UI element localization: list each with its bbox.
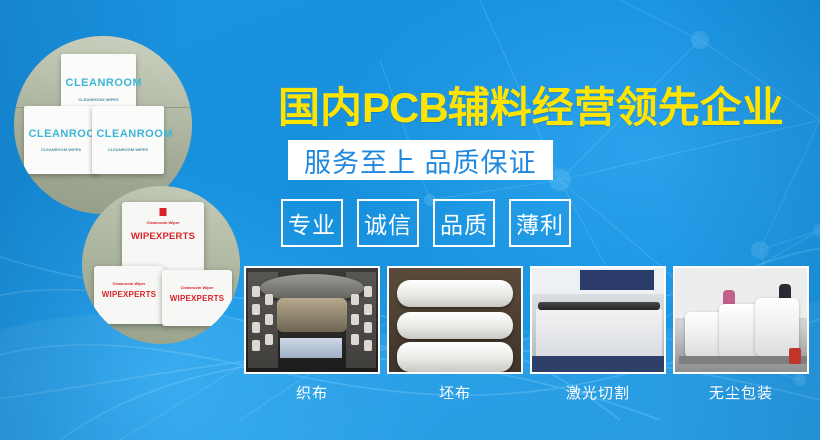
process-caption: 激光切割 <box>530 382 666 403</box>
feature-tag-professional: 专业 <box>281 199 343 247</box>
process-thumbnail-packing-room <box>673 266 809 374</box>
product-bale: Cleanroom Wiper WIPEXPERTS <box>94 266 164 324</box>
feature-tag-label: 诚信 <box>364 206 412 240</box>
process-item-laser-cutting: 激光切割 <box>530 266 666 403</box>
product-box: CLEANROOM CLEANROOM WIPES <box>24 106 98 174</box>
product-bale: Cleanroom Wiper WIPEXPERTS <box>122 202 204 272</box>
headline-brand: PCB <box>362 84 448 131</box>
process-item-greige-fabric: 坯布 <box>387 266 523 403</box>
product-bale: Cleanroom Wiper WIPEXPERTS <box>162 270 232 326</box>
promotional-banner: CLEANROOM CLEANROOM WIPES CLEANROOM CLEA… <box>0 0 820 440</box>
process-caption: 坯布 <box>387 382 523 403</box>
feature-tag-integrity: 诚信 <box>357 199 419 247</box>
process-thumbnail-fabric-rolls <box>387 266 523 374</box>
feature-tag-quality: 品质 <box>433 199 495 247</box>
feature-tag-list: 专业 诚信 品质 薄利 <box>281 199 571 247</box>
process-caption: 无尘包装 <box>673 382 809 403</box>
process-item-cleanroom-packing: 无尘包装 <box>673 266 809 403</box>
process-thumbnail-knitting-machine <box>244 266 380 374</box>
headline-suffix: 辅料经营领先企业 <box>448 84 784 131</box>
headline-prefix: 国内 <box>278 84 362 131</box>
product-box: CLEANROOM CLEANROOM WIPES <box>92 106 164 174</box>
process-thumbnail-laser-cutter <box>530 266 666 374</box>
process-item-weaving: 织布 <box>244 266 380 403</box>
feature-tag-label: 品质 <box>440 206 488 240</box>
feature-tag-label: 专业 <box>288 206 336 240</box>
product-photo-wipexperts-bales: Cleanroom Wiper WIPEXPERTS Cleanroom Wip… <box>82 186 240 344</box>
process-thumbnail-list: 织布 坯布 激光切割 <box>244 266 809 403</box>
banner-headline: 国内PCB辅料经营领先企业 <box>278 74 784 135</box>
banner-subtitle: 服务至上 品质保证 <box>304 141 537 180</box>
banner-subtitle-bar: 服务至上 品质保证 <box>288 140 553 180</box>
feature-tag-label: 薄利 <box>516 206 564 240</box>
process-caption: 织布 <box>244 382 380 403</box>
feature-tag-low-margin: 薄利 <box>509 199 571 247</box>
